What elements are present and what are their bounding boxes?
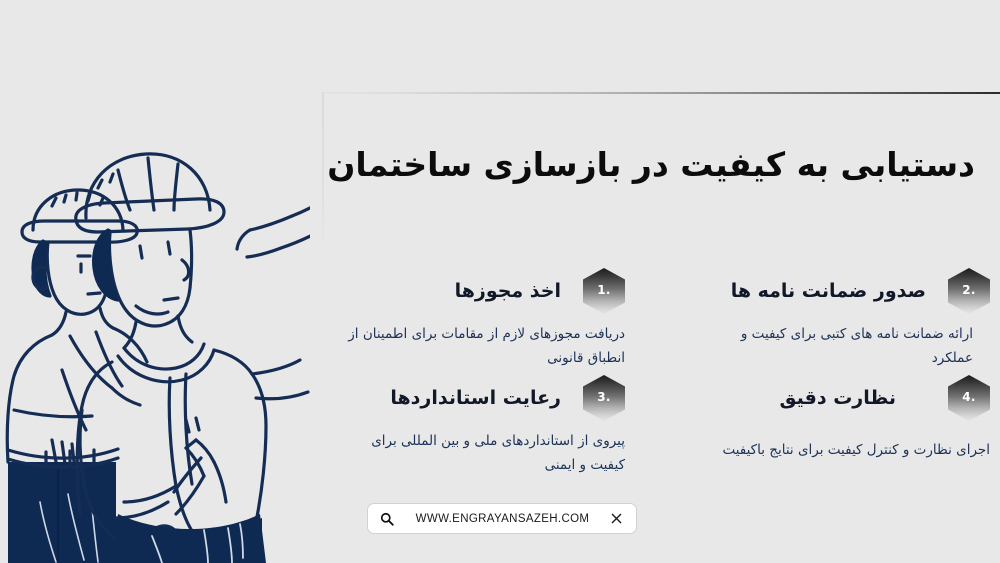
info-item-4-description: اجرای نظارت و کنترل کیفیت برای نتایج باک…: [705, 439, 990, 463]
info-item-3-header: 3. رعایت استانداردها: [340, 375, 625, 421]
info-item-3: 3. رعایت استانداردها پیروی از استاندارده…: [340, 375, 625, 477]
frame-left-line: [322, 92, 324, 242]
frame-top-line: [322, 92, 1000, 94]
info-item-2-description: ارائه ضمانت نامه های کتبی برای کیفیت و ع…: [705, 323, 973, 370]
hexagon-badge-3-number: 3.: [597, 390, 611, 404]
hexagon-badge-4: 4.: [948, 375, 990, 421]
hexagon-badge-2: 2.: [948, 268, 990, 314]
info-item-1-title: اخذ مجوزها: [455, 280, 561, 302]
hexagon-badge-4-number: 4.: [962, 390, 976, 404]
website-search-bar[interactable]: WWW.ENGRAYANSAZEH.COM: [367, 503, 637, 534]
hexagon-badge-2-number: 2.: [962, 283, 976, 297]
info-item-2-header: 2. صدور ضمانت نامه ها: [705, 268, 990, 314]
info-item-4-header: 4. نظارت دقیق: [705, 375, 990, 421]
website-url-text: WWW.ENGRAYANSAZEH.COM: [394, 513, 611, 525]
hexagon-badge-3: 3.: [583, 375, 625, 421]
info-item-1: 1. اخذ مجوزها دریافت مجوزهای لازم از مقا…: [340, 268, 625, 370]
hexagon-badge-1-number: 1.: [597, 283, 611, 297]
info-item-2: 2. صدور ضمانت نامه ها ارائه ضمانت نامه ه…: [705, 268, 990, 370]
worker-illustration: [0, 110, 310, 563]
page-title: دستیابی به کیفیت در بازسازی ساختمان: [335, 143, 975, 188]
info-item-4-title: نظارت دقیق: [780, 387, 897, 409]
info-item-2-title: صدور ضمانت نامه ها: [731, 280, 926, 302]
infographic-canvas: دستیابی به کیفیت در بازسازی ساختمان 1. ا…: [0, 0, 1000, 563]
hexagon-badge-1: 1.: [583, 268, 625, 314]
info-item-1-header: 1. اخذ مجوزها: [340, 268, 625, 314]
info-item-3-title: رعایت استانداردها: [390, 387, 561, 409]
search-icon: [380, 512, 394, 526]
info-item-1-description: دریافت مجوزهای لازم از مقامات برای اطمین…: [340, 323, 625, 370]
info-item-4: 4. نظارت دقیق اجرای نظارت و کنترل کیفیت …: [705, 375, 990, 463]
info-item-3-description: پیروی از استانداردهای ملی و بین المللی ب…: [340, 430, 625, 477]
close-icon[interactable]: [611, 513, 622, 524]
